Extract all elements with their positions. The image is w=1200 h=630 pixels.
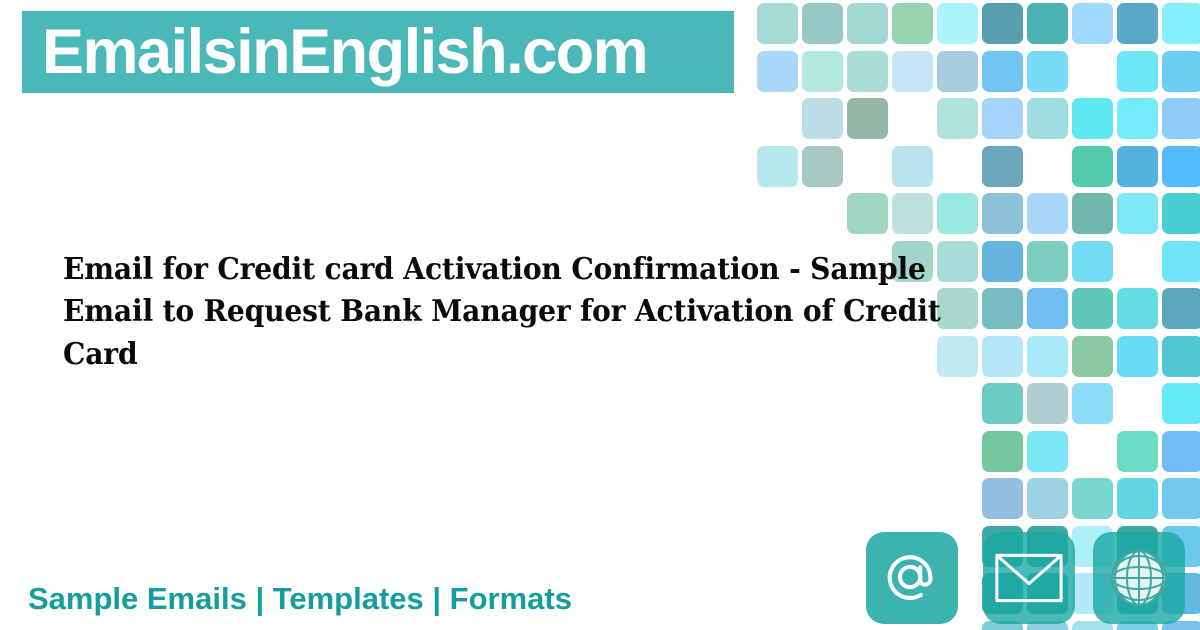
mosaic-cell [847,51,888,92]
mosaic-cell [937,51,978,92]
mosaic-cell [937,336,978,377]
mosaic-cell [1117,98,1158,139]
mosaic-cell [1162,383,1200,424]
mosaic-cell [1027,3,1068,44]
mosaic-cell [1162,193,1200,234]
mosaic-cell [1072,288,1113,329]
mosaic-cell [1027,478,1068,519]
mosaic-cell [982,383,1023,424]
mosaic-cell [1027,383,1068,424]
mosaic-cell [1072,193,1113,234]
mosaic-cell [982,241,1023,282]
mosaic-cell [847,3,888,44]
mosaic-cell [892,146,933,187]
mosaic-cell [802,3,843,44]
mosaic-cell [1027,51,1068,92]
mosaic-cell [982,336,1023,377]
site-logo-banner[interactable]: EmailsinEnglish.com [22,11,734,93]
mosaic-cell [1162,336,1200,377]
footer-tagline: Sample Emails | Templates | Formats [28,582,572,616]
mosaic-cell [1117,146,1158,187]
mosaic-cell [1162,3,1200,44]
mosaic-cell [1117,431,1158,472]
mosaic-cell [802,146,843,187]
mosaic-cell [1162,51,1200,92]
mosaic-cell [1072,98,1113,139]
mosaic-cell [1117,336,1158,377]
mosaic-cell [1027,288,1068,329]
mosaic-cell [937,98,978,139]
mosaic-cell [982,288,1023,329]
mosaic-cell [1162,478,1200,519]
mosaic-cell [1117,3,1158,44]
at-sign-icon[interactable] [866,532,958,624]
mosaic-cell [802,51,843,92]
mosaic-cell [1117,478,1158,519]
mosaic-cell [1027,431,1068,472]
mosaic-cell [847,193,888,234]
mosaic-cell [892,51,933,92]
mosaic-cell [1072,336,1113,377]
mosaic-cell [1162,288,1200,329]
mosaic-cell [1117,383,1158,424]
mosaic-cell [1162,241,1200,282]
mosaic-cell [1162,431,1200,472]
mosaic-cell [1162,98,1200,139]
page-title: Email for Credit card Activation Confirm… [63,248,942,375]
mosaic-cell [937,241,978,282]
mosaic-cell [892,3,933,44]
mosaic-cell [847,98,888,139]
mosaic-cell [1072,478,1113,519]
mosaic-cell [757,146,798,187]
mosaic-cell [802,98,843,139]
mosaic-cell [982,51,1023,92]
site-logo-text: EmailsinEnglish.com [42,21,647,84]
mosaic-cell [937,193,978,234]
mosaic-cell [1072,146,1113,187]
mosaic-cell [937,3,978,44]
mosaic-cell [982,431,1023,472]
mosaic-cell [1027,193,1068,234]
mosaic-cell [892,193,933,234]
mosaic-cell [1162,146,1200,187]
mosaic-cell [1027,336,1068,377]
mosaic-cell [757,3,798,44]
mosaic-cell [757,51,798,92]
mosaic-cell [982,478,1023,519]
mosaic-cell [982,98,1023,139]
mosaic-cell [1117,51,1158,92]
mosaic-cell [982,193,1023,234]
mosaic-cell [1027,241,1068,282]
mosaic-cell [1117,193,1158,234]
mosaic-cell [1072,383,1113,424]
mosaic-cell [1027,98,1068,139]
mosaic-cell [937,288,978,329]
mosaic-cell [1117,288,1158,329]
globe-icon[interactable] [1093,532,1185,624]
mosaic-cell [982,146,1023,187]
envelope-icon[interactable] [983,532,1075,624]
mosaic-cell [982,3,1023,44]
mosaic-cell [1072,241,1113,282]
mosaic-cell [1072,3,1113,44]
mosaic-cell [1117,241,1158,282]
